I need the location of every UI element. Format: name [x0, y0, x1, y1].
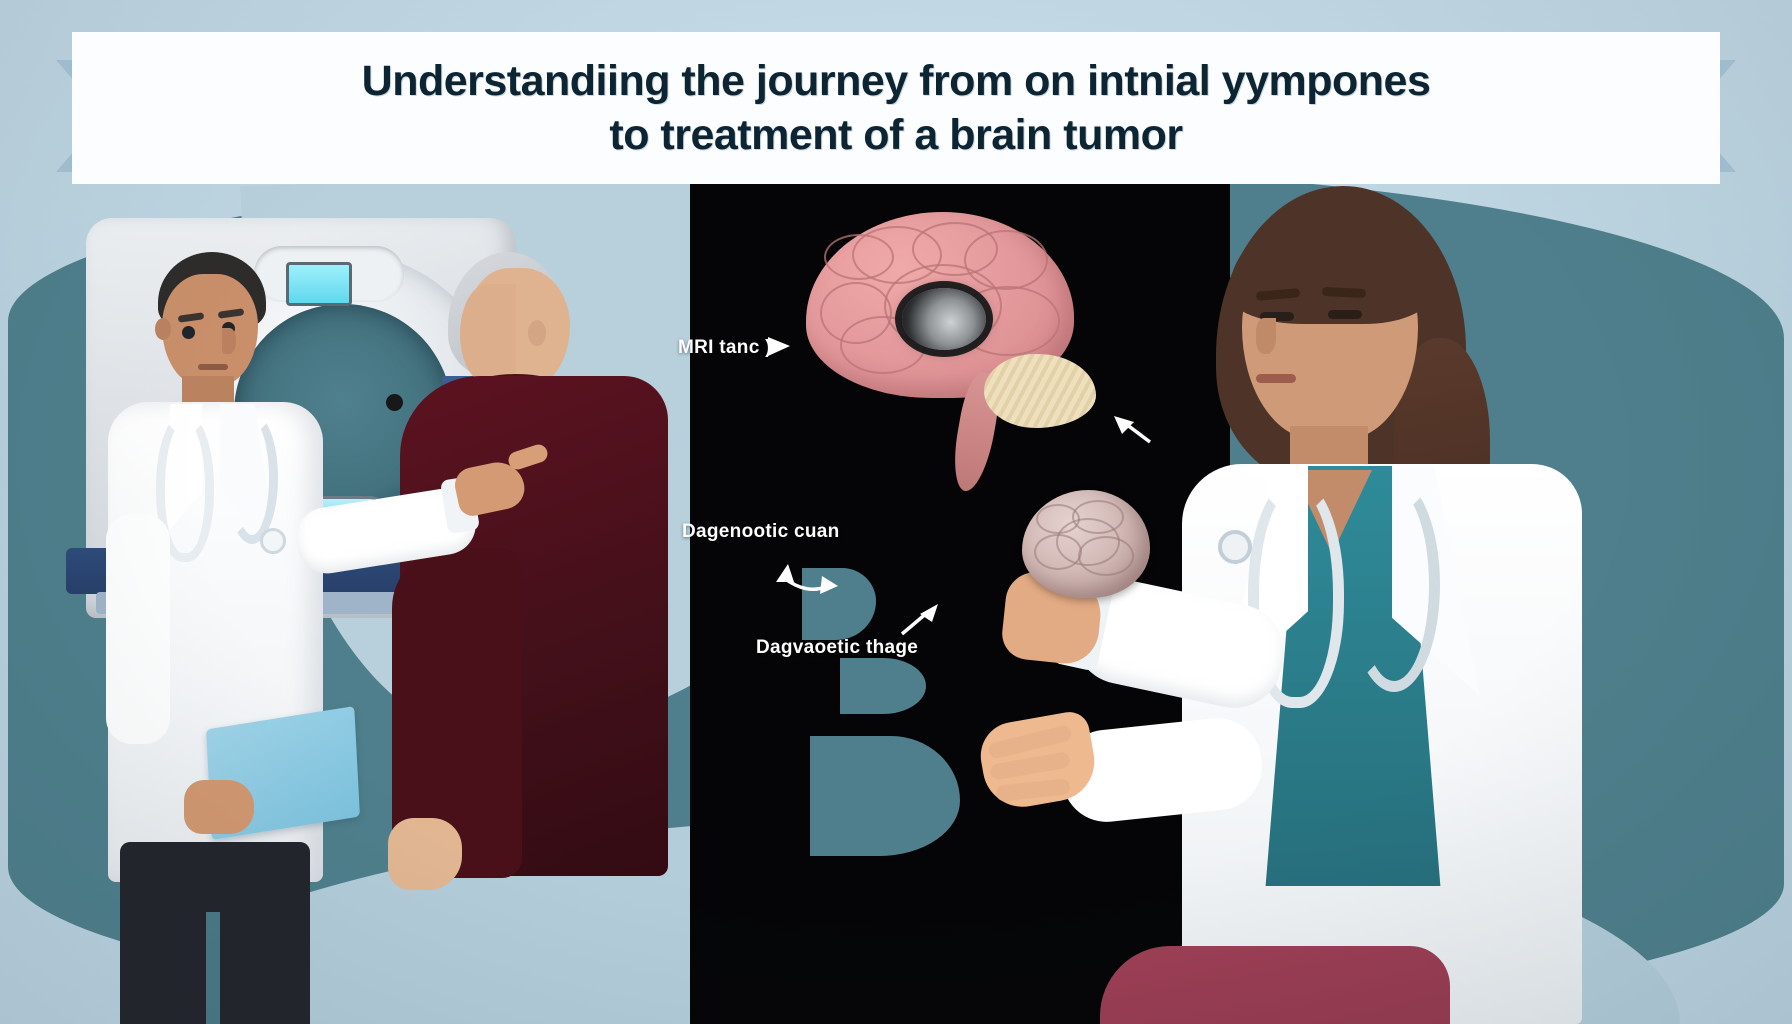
tumor-mass — [902, 288, 986, 350]
patient-ear — [528, 320, 546, 346]
treatment-arrow-icon — [1110, 412, 1156, 448]
stethoscope-bell — [260, 528, 286, 554]
elderly-patient — [400, 248, 700, 888]
male-doctor-hand-left — [184, 780, 254, 834]
female-doctor-mouth — [1256, 374, 1296, 383]
title-line-2: to treatment of a brain tumor — [609, 108, 1182, 162]
female-stethoscope-bell — [1218, 530, 1252, 564]
female-doctor — [1170, 178, 1730, 1024]
anatomical-brain — [806, 212, 1106, 442]
female-doctor-trousers — [1100, 946, 1450, 1024]
patient-face-shadow — [460, 284, 516, 384]
label-mri-scan: MRI tanc ) — [678, 337, 772, 359]
brain-model — [1022, 490, 1150, 598]
silhouette-lip-notch — [840, 658, 926, 714]
cerebellum — [984, 354, 1096, 428]
male-doctor-leg-gap — [206, 912, 220, 1024]
male-doctor-mouth — [198, 364, 228, 370]
diagnostic-scan-arrow-icon — [770, 556, 842, 604]
banner-body: Understandiing the journey from on intni… — [72, 32, 1720, 184]
diagnostic-stage-arrow-icon — [898, 600, 944, 640]
label-diagnostic-scan: Dagenootic cuan — [682, 521, 840, 543]
male-doctor-nose — [222, 328, 236, 354]
female-doctor-nose — [1256, 318, 1276, 354]
female-doctor-eye-right — [1328, 310, 1362, 319]
illustration-canvas: MRI tanc ) Dagenootic cuan Dagvaoetic th… — [0, 0, 1792, 1024]
stethoscope-tube-right — [226, 412, 278, 544]
brain-model-fold — [1056, 518, 1120, 566]
male-doctor — [100, 252, 400, 882]
male-doctor-ear — [155, 318, 171, 340]
silhouette-chin-notch — [810, 736, 960, 856]
male-doctor-arm-left — [106, 514, 170, 744]
male-doctor-eye-left — [182, 326, 195, 339]
female-stethoscope-tube-right — [1348, 478, 1440, 692]
title-banner: Understandiing the journey from on intni… — [0, 26, 1792, 186]
title-line-1: Understandiing the journey from on intni… — [362, 54, 1431, 108]
mri-scan-arrow-icon — [762, 334, 796, 360]
label-diagnostic-stage: Dagvaoetic thage — [756, 637, 918, 659]
